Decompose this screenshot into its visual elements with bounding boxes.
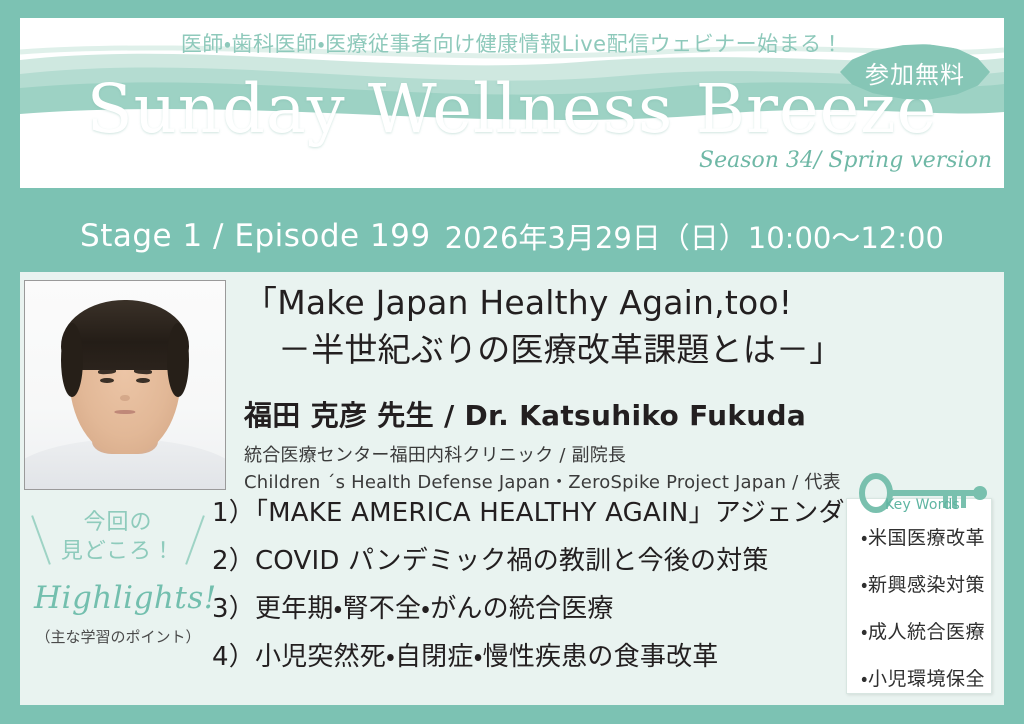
keyword-item-4: ・小児環境保全	[847, 664, 991, 691]
keyword-item-3: ・成人統合医療	[847, 617, 991, 644]
event-datetime-label: 2026年3月29日（日）10:00〜12:00	[445, 215, 944, 257]
portrait-eye-right	[136, 378, 149, 383]
highlights-jp-wrap: 今回の 見どころ！	[34, 508, 202, 566]
free-badge: 参加無料	[840, 44, 990, 100]
portrait-mouth	[114, 410, 135, 414]
portrait-nose	[120, 395, 130, 402]
keyword-item-1: ・米国医療改革	[847, 523, 991, 550]
slash-left-decoration	[31, 515, 51, 565]
lecture-title-line2: －半世紀ぶりの医療改革課題とは－」	[244, 327, 984, 374]
portrait-eye-left	[100, 378, 113, 383]
lecture-block: 「Make Japan Healthy Again,too! －半世紀ぶりの医療…	[244, 280, 984, 496]
agenda-item-4: 4）小児突然死・自閉症・慢性疾患の食事改革	[212, 644, 852, 670]
agenda-item-1: 1）「MAKE AMERICA HEALTHY AGAIN」アジェンダ	[212, 500, 852, 526]
portrait-hair-left	[61, 323, 83, 398]
agenda-list: 1）「MAKE AMERICA HEALTHY AGAIN」アジェンダ 2）CO…	[212, 500, 852, 692]
keywords-label: Key Words	[885, 497, 960, 513]
highlights-jp-line1: 今回の	[52, 508, 184, 537]
content-panel: 「Make Japan Healthy Again,too! －半世紀ぶりの医療…	[20, 272, 1004, 705]
portrait-hair-right	[167, 323, 189, 398]
highlights-label-block: 今回の 見どころ！ Highlights! （主な学習のポイント）	[34, 508, 202, 647]
highlights-subtitle: （主な学習のポイント）	[34, 626, 202, 647]
keyword-item-2: ・新興感染対策	[847, 570, 991, 597]
speaker-photo-frame	[24, 280, 226, 490]
slash-right-decoration	[185, 515, 205, 565]
affiliation-line-1: 統合医療センター福田内科クリニック / 副院長	[244, 442, 984, 469]
season-label: Season 34/ Spring version	[699, 148, 992, 173]
lecture-title-line1: 「Make Japan Healthy Again,too!	[244, 283, 792, 322]
stage-episode-label: Stage 1 / Episode 199	[80, 218, 431, 254]
agenda-item-2: 2）COVID パンデミック禍の教訓と今後の対策	[212, 548, 852, 574]
speaker-portrait-image	[25, 281, 225, 489]
stage-date-bar: Stage 1 / Episode 199 2026年3月29日（日）10:00…	[20, 200, 1004, 272]
keywords-list: ・米国医療改革 ・新興感染対策 ・成人統合医療 ・小児環境保全	[847, 523, 991, 711]
header-banner: 医師・歯科医師・医療従事者向け健康情報Live配信ウェビナー始まる！ Sunda…	[20, 18, 1004, 188]
highlights-jp-line2: 見どころ！	[52, 537, 184, 566]
free-badge-label: 参加無料	[840, 44, 990, 100]
webinar-poster: 医師・歯科医師・医療従事者向け健康情報Live配信ウェビナー始まる！ Sunda…	[0, 0, 1024, 724]
speaker-name: 福田 克彦 先生 / Dr. Katsuhiko Fukuda	[244, 394, 984, 434]
lecture-title: 「Make Japan Healthy Again,too! －半世紀ぶりの医療…	[244, 280, 984, 374]
agenda-item-3: 3）更年期・腎不全・がんの統合医療	[212, 596, 852, 622]
keywords-panel: Key Words ・米国医療改革 ・新興感染対策 ・成人統合医療 ・小児環境保…	[846, 498, 992, 694]
highlights-en-label: Highlights!	[34, 580, 202, 616]
